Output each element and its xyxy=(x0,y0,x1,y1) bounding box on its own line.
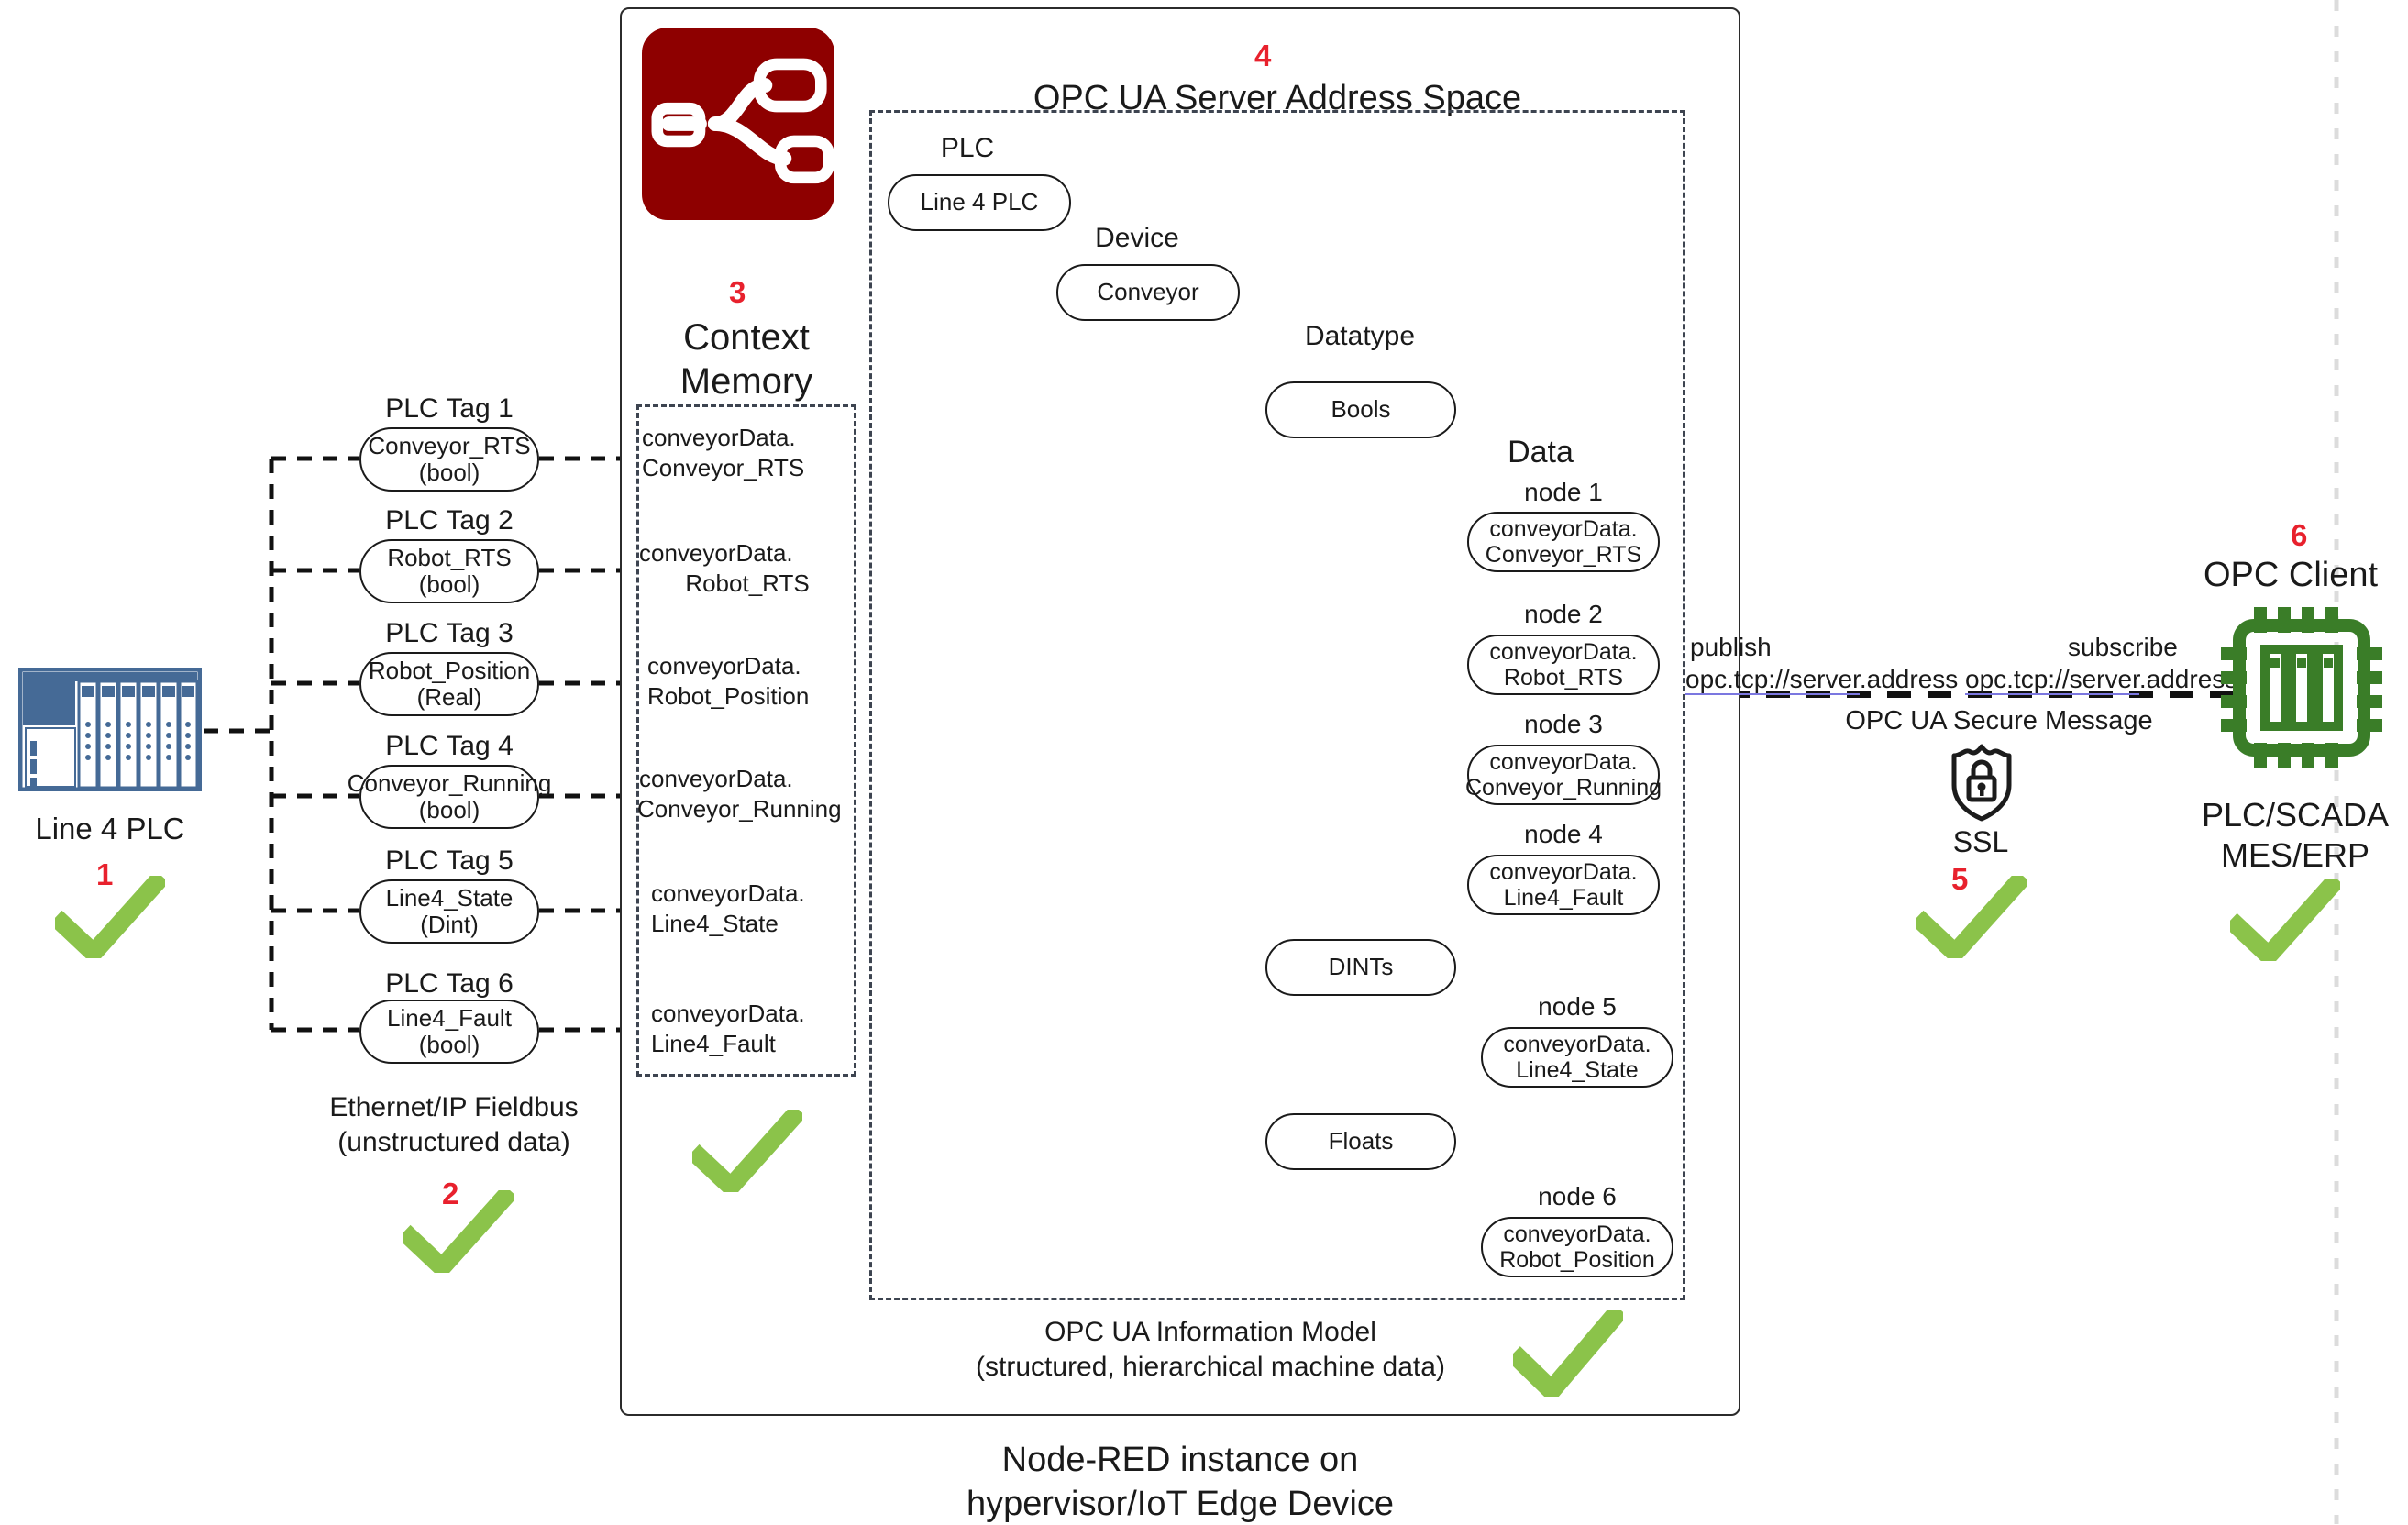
addrspace-data-node-key: conveyorData. xyxy=(1503,1032,1651,1057)
green-check-6 xyxy=(2230,879,2340,961)
context-memory-entry-value: Robot_Position xyxy=(647,682,856,711)
addrspace-data-node-key: conveyorData. xyxy=(1503,1221,1651,1247)
context-memory-entry-key: conveyorData. xyxy=(651,879,856,908)
context-memory-title-line1: Context xyxy=(636,316,856,359)
plc-tag-name: Line4_Fault xyxy=(387,1005,512,1032)
addrspace-data-node[interactable]: conveyorData. Conveyor_Running xyxy=(1467,745,1660,805)
addrspace-data-node-value: Conveyor_Running xyxy=(1465,775,1662,801)
publish-url[interactable]: opc.tcp://server.address xyxy=(1685,665,1958,694)
plc-tag-node[interactable]: Conveyor_Running (bool) xyxy=(359,765,539,829)
plc-tag-caption: PLC Tag 3 xyxy=(359,618,539,648)
step-number-3: 3 xyxy=(729,275,746,310)
addrspace-data-node-value: Robot_RTS xyxy=(1504,665,1623,691)
secure-message-label: OPC UA Secure Message xyxy=(1825,706,2173,736)
green-check-2 xyxy=(403,1190,514,1273)
addrspace-node-caption: node 1 xyxy=(1467,479,1660,507)
plc-tag-node[interactable]: Line4_State (Dint) xyxy=(359,879,539,944)
addrspace-data-node-key: conveyorData. xyxy=(1489,639,1637,665)
plc-tag-name: Robot_Position xyxy=(369,658,530,684)
plc-tag-caption: PLC Tag 1 xyxy=(359,393,539,424)
addrspace-data-node[interactable]: conveyorData. Line4_Fault xyxy=(1467,855,1660,915)
addrspace-device-node-label: Conveyor xyxy=(1097,279,1198,305)
publish-url-tail: .address xyxy=(1860,665,1958,693)
addrspace-data-node-value: Line4_Fault xyxy=(1504,885,1624,911)
plc-tag-name: Conveyor_Running xyxy=(348,770,552,797)
addrspace-datatype-node-floats[interactable]: Floats xyxy=(1265,1113,1456,1170)
addrspace-datatype-caption: Datatype xyxy=(1264,321,1456,351)
shield-lock-icon xyxy=(1949,743,2015,822)
plc-tag-name: Robot_RTS xyxy=(387,545,511,571)
context-memory-entry-value: Conveyor_Running xyxy=(637,795,859,823)
ssl-label: SSL xyxy=(1916,825,2045,859)
plc-tag-name: Conveyor_RTS xyxy=(368,433,530,459)
addrspace-data-node-key: conveyorData. xyxy=(1489,516,1637,542)
plc-tag-type: (bool) xyxy=(419,797,480,823)
plc-tag-type: (bool) xyxy=(419,459,480,486)
green-check-4 xyxy=(1513,1310,1623,1397)
opc-client-title: OPC Client xyxy=(2173,555,2408,596)
subscribe-url-link: opc.tcp://server xyxy=(1965,665,2139,695)
context-memory-entry-value: Robot_RTS xyxy=(639,569,856,598)
addrspace-data-node[interactable]: conveyorData. Robot_Position xyxy=(1481,1217,1673,1277)
subscribe-label: subscribe xyxy=(2068,633,2178,662)
subscribe-url[interactable]: opc.tcp://server.address xyxy=(1965,665,2237,694)
plc-device-label: Line 4 PLC xyxy=(0,812,220,847)
addrspace-datatype-label: Floats xyxy=(1329,1128,1394,1155)
address-space-footer-line1: OPC UA Information Model xyxy=(917,1316,1504,1348)
addrspace-data-node[interactable]: conveyorData. Line4_State xyxy=(1481,1027,1673,1088)
addrspace-data-node-value: Robot_Position xyxy=(1499,1247,1655,1273)
plc-tag-node[interactable]: Conveyor_RTS (bool) xyxy=(359,427,539,492)
address-space-footer-line2: (structured, hierarchical machine data) xyxy=(917,1351,1504,1383)
addrspace-datatype-label: Bools xyxy=(1331,396,1390,423)
addrspace-node-caption: node 4 xyxy=(1467,821,1660,849)
node-red-logo-icon xyxy=(642,28,834,220)
publish-label: publish xyxy=(1690,633,1772,662)
opc-client-subtitle-line1: PLC/SCADA xyxy=(2182,796,2408,834)
addrspace-data-node[interactable]: conveyorData. Conveyor_RTS xyxy=(1467,512,1660,572)
step-number-6: 6 xyxy=(2291,518,2307,553)
context-memory-entry-value: Conveyor_RTS xyxy=(642,454,855,482)
nodered-footer-line1: Node-RED instance on xyxy=(895,1440,1465,1481)
context-memory-entry-value: Line4_State xyxy=(651,910,856,938)
context-memory-entry-key: conveyorData. xyxy=(651,1000,856,1028)
plc-tag-caption: PLC Tag 2 xyxy=(359,505,539,536)
context-memory-entry-key: conveyorData. xyxy=(639,765,857,793)
plc-tag-type: (bool) xyxy=(419,571,480,598)
addrspace-plc-node[interactable]: Line 4 PLC xyxy=(888,174,1071,231)
green-check-5 xyxy=(1916,876,2027,958)
addrspace-device-caption: Device xyxy=(1055,223,1220,253)
addrspace-device-node[interactable]: Conveyor xyxy=(1056,264,1240,321)
cpu-chip-icon xyxy=(2219,605,2384,775)
addrspace-datatype-node-bools[interactable]: Bools xyxy=(1265,381,1456,438)
step-number-4: 4 xyxy=(1254,39,1271,73)
addrspace-plc-node-label: Line 4 PLC xyxy=(921,189,1039,215)
fieldbus-label-line1: Ethernet/IP Fieldbus xyxy=(275,1091,633,1123)
plc-tag-name: Line4_State xyxy=(386,885,514,912)
addrspace-node-caption: node 6 xyxy=(1481,1183,1673,1211)
green-check-3 xyxy=(692,1110,802,1192)
addrspace-data-node-value: Conveyor_RTS xyxy=(1486,542,1641,568)
opc-client-subtitle-line2: MES/ERP xyxy=(2182,836,2408,875)
addrspace-node-caption: node 5 xyxy=(1481,993,1673,1022)
green-check-1 xyxy=(55,876,165,958)
plc-tag-node[interactable]: Robot_RTS (bool) xyxy=(359,539,539,603)
nodered-footer-line2: hypervisor/IoT Edge Device xyxy=(895,1484,1465,1525)
context-memory-entry-key: conveyorData. xyxy=(642,424,855,452)
plc-tag-node[interactable]: Robot_Position (Real) xyxy=(359,652,539,716)
context-memory-box xyxy=(636,404,856,1077)
plc-tag-caption: PLC Tag 5 xyxy=(359,845,539,876)
addrspace-node-caption: node 3 xyxy=(1467,711,1660,739)
addrspace-node-caption: node 2 xyxy=(1467,601,1660,629)
addrspace-data-node-value: Line4_State xyxy=(1516,1057,1638,1083)
plc-tag-type: (Real) xyxy=(417,684,482,711)
context-memory-entry-key: conveyorData. xyxy=(647,652,856,680)
addrspace-datatype-label: DINTs xyxy=(1329,954,1394,980)
addrspace-data-node-key: conveyorData. xyxy=(1489,859,1637,885)
plc-tag-node[interactable]: Line4_Fault (bool) xyxy=(359,1000,539,1064)
addrspace-data-caption: Data xyxy=(1449,436,1632,470)
addrspace-data-node[interactable]: conveyorData. Robot_RTS xyxy=(1467,635,1660,695)
plc-tag-caption: PLC Tag 6 xyxy=(359,968,539,999)
plc-rack-icon xyxy=(18,668,202,791)
plc-tag-caption: PLC Tag 4 xyxy=(359,731,539,761)
addrspace-plc-caption: PLC xyxy=(894,133,1041,163)
plc-tag-type: (Dint) xyxy=(420,912,479,938)
addrspace-data-node-key: conveyorData. xyxy=(1489,749,1637,775)
plc-tag-type: (bool) xyxy=(419,1032,480,1058)
context-memory-entry-key: conveyorData. xyxy=(639,539,856,568)
fieldbus-label-line2: (unstructured data) xyxy=(275,1126,633,1158)
addrspace-datatype-node-dints[interactable]: DINTs xyxy=(1265,939,1456,996)
context-memory-title-line2: Memory xyxy=(636,360,856,403)
publish-url-link: opc.tcp://server xyxy=(1685,665,1860,695)
context-memory-entry-value: Line4_Fault xyxy=(651,1030,856,1058)
